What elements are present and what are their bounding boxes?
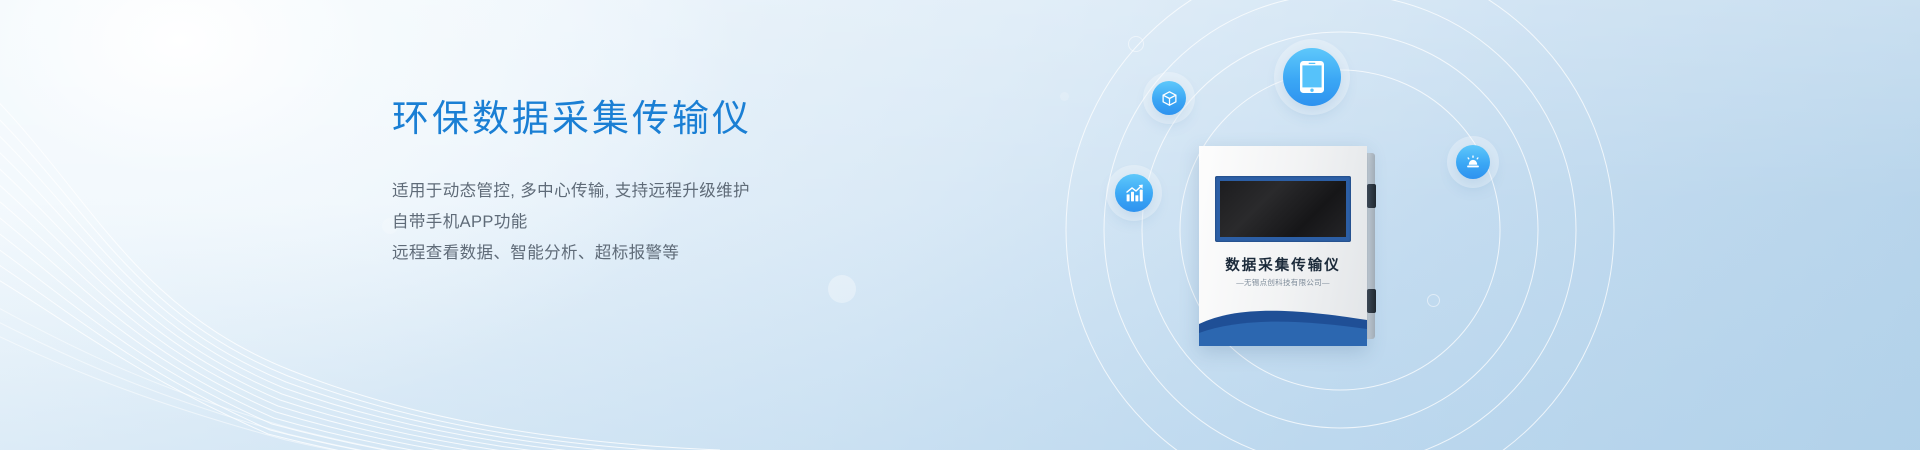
- product-device-image: 数据采集传输仪 —无锡点创科技有限公司—: [1199, 146, 1374, 346]
- device-screen-bezel: [1215, 176, 1351, 242]
- subtitle-line-1: 适用于动态管控, 多中心传输, 支持远程升级维护: [392, 176, 952, 207]
- phone-icon[interactable]: [1283, 48, 1341, 106]
- bokeh-circle: [828, 275, 856, 303]
- hero-banner: 环保数据采集传输仪 适用于动态管控, 多中心传输, 支持远程升级维护 自带手机A…: [0, 0, 1920, 450]
- banner-copy: 环保数据采集传输仪 适用于动态管控, 多中心传输, 支持远程升级维护 自带手机A…: [392, 96, 952, 269]
- subtitle-line-3: 远程查看数据、智能分析、超标报警等: [392, 238, 952, 269]
- alarm-icon[interactable]: [1456, 145, 1490, 179]
- device-body: 数据采集传输仪 —无锡点创科技有限公司—: [1199, 146, 1367, 346]
- device-lcd-screen: [1220, 181, 1346, 237]
- device-latch-top: [1367, 184, 1376, 208]
- device-bottom-wave: [1199, 304, 1367, 346]
- page-title: 环保数据采集传输仪: [392, 96, 952, 142]
- cube-icon[interactable]: [1152, 81, 1186, 115]
- device-latch-bottom: [1367, 289, 1376, 313]
- subtitle-line-2: 自带手机APP功能: [392, 207, 952, 238]
- device-company-name: —无锡点创科技有限公司—: [1199, 277, 1367, 288]
- device-label: 数据采集传输仪: [1199, 254, 1367, 275]
- chart-icon[interactable]: [1115, 174, 1153, 212]
